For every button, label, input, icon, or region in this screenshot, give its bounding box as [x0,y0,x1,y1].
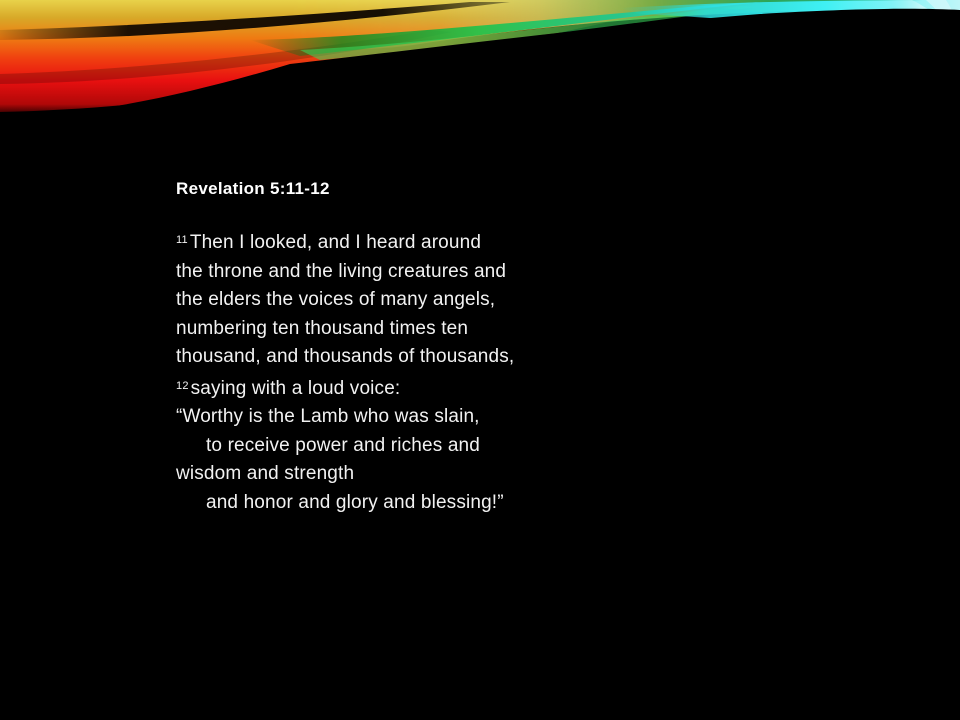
wave-green-accent [300,6,756,60]
wave-black-mass [0,9,960,140]
verse-line-text: Then I looked, and I heard around [190,232,481,253]
verse-line: “Worthy is the Lamb who was slain, [176,403,696,432]
wave-warm-lobe [0,0,700,112]
wave-dark-streak [0,2,510,40]
verse-line: the elders the voices of many angels, [176,286,696,315]
page-title: Revelation 5:11-12 [176,178,696,200]
verse-line-text: and honor and glory and blessing!” [206,492,504,513]
verse-line-text: the throne and the living creatures and [176,261,506,282]
verse-line-text: the elders the voices of many angels, [176,289,495,310]
verse-line-text: numbering ten thousand times ten [176,318,468,339]
wave-dark-streak-secondary [0,30,452,84]
wave-cyan-streak-two [926,0,960,44]
presentation-slide: Revelation 5:11-12 11Then I looked, and … [0,0,960,720]
rainbow-wave-banner [0,0,960,140]
verse-line-text: thousand, and thousands of thousands, [176,346,514,367]
verse-body: 11Then I looked, and I heard around the … [176,226,696,517]
verse-line: and honor and glory and blessing!” [176,489,696,518]
wave-highlight-band [0,0,960,49]
verse-line: to receive power and riches and [176,432,696,461]
verse-line-text: wisdom and strength [176,463,354,484]
verse-line: 11Then I looked, and I heard around [176,226,696,258]
wave-cyan-band [620,0,960,46]
wave-green-ribbon [250,2,760,56]
verse-number: 12 [176,380,189,392]
verse-line-text: “Worthy is the Lamb who was slain, [176,406,480,427]
verse-line: thousand, and thousands of thousands, [176,343,696,372]
verse-line-text: to receive power and riches and [206,435,480,456]
verse-line: wisdom and strength [176,460,696,489]
verse-line: 12saying with a loud voice: [176,372,696,404]
verse-line-text: saying with a loud voice: [191,378,401,399]
scripture-text-block: Revelation 5:11-12 11Then I looked, and … [176,178,696,517]
verse-line: the throne and the living creatures and [176,258,696,287]
verse-line: numbering ten thousand times ten [176,315,696,344]
wave-cyan-streak-one [880,0,960,56]
verse-number: 11 [176,234,188,246]
wave-cyan-sweep [690,6,960,96]
wave-graphic [0,0,960,140]
